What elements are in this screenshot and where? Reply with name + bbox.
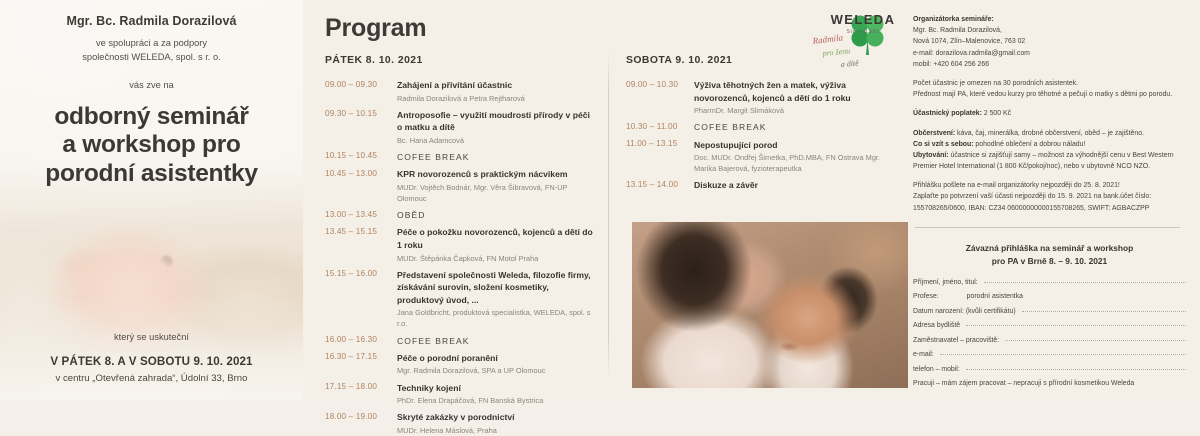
- apply-deadline: Přihlášku pošlete na e-mail organizátork…: [913, 180, 1186, 191]
- schedule-item-speaker: PhDr. Elena Drapáčová, FN Banská Bystric…: [397, 395, 594, 406]
- form-field-label: Adresa bydliště: [913, 322, 960, 329]
- schedule-item-body: Skryté zakázky v porodnictvíMUDr. Helena…: [397, 411, 594, 436]
- form-field-label: telefon – mobil:: [913, 366, 960, 373]
- schedule-item: 17.15 – 18.00Techniky kojeníPhDr. Elena …: [325, 382, 594, 407]
- spacer: [26, 189, 277, 332]
- schedule-item: 16.00 – 16.30COFEE BREAK: [325, 335, 594, 347]
- schedule-item-speaker: Bc. Hana Adamcová: [397, 135, 594, 146]
- form-row: Profese:porodní asistentka: [913, 293, 1186, 300]
- schedule-item-title: COFEE BREAK: [397, 151, 594, 163]
- collab-line-2: společnosti WELEDA, spol. s r. o.: [26, 50, 277, 64]
- schedule-item-title: Antroposofie – využití moudrosti přírody…: [397, 109, 594, 134]
- schedule-item-title: KPR novorozenců s praktickým nácvikem: [397, 168, 594, 181]
- schedule-item-title: Zahájení a přivítání účastnic: [397, 79, 594, 92]
- schedule-item-speaker: Mgr. Radmila Dorazilová, SPA a UP Olomou…: [397, 365, 594, 376]
- organizer-mobile: mobil: +420 604 256 266: [913, 59, 1186, 70]
- schedule-item: 09.30 – 10.15Antroposofie – využití moud…: [325, 109, 594, 146]
- schedule-item-body: Diskuze a závěr: [694, 179, 889, 192]
- schedule-item-title: Nepostupující porod: [694, 139, 889, 152]
- info-panel: WELEDA Since 1921 Organizátorka semináře…: [903, 0, 1200, 400]
- practical-info-block: Občerstvení: káva, čaj, minerálka, drobn…: [913, 128, 1186, 173]
- schedule-item-body: COFEE BREAK: [397, 151, 594, 163]
- schedule-item-body: Techniky kojeníPhDr. Elena Drapáčová, FN…: [397, 382, 594, 407]
- schedule-item-body: Nepostupující porodDoc. MUDr. Ondřej Šim…: [694, 139, 889, 175]
- program-header: Program Radmila pro ženu a dítě: [303, 14, 903, 43]
- schedule-item-time: 10.15 – 10.45: [325, 151, 397, 163]
- schedule-item-time: 10.45 – 13.00: [325, 168, 397, 204]
- form-field-input[interactable]: [984, 282, 1186, 283]
- form-field-label: Datum narození: (kvůli certifikátu): [913, 308, 1016, 315]
- fee-value: 2 500 Kč: [982, 110, 1011, 117]
- organizer-name: Mgr. Bc. Radmila Dorazilová: [26, 14, 277, 28]
- schedule-item: 09.00 – 10.30Výživa těhotných žen a mate…: [626, 79, 889, 116]
- schedule-item-body: COFEE BREAK: [694, 121, 889, 133]
- fee-block: Účastnický poplatek: 2 500 Kč: [913, 108, 1186, 119]
- schedule-item-time: 10.30 – 11.00: [626, 121, 694, 133]
- accommodation-value: účastnice si zajišťují samy – možnost za…: [949, 152, 1174, 159]
- schedule-item-time: 11.00 – 13.15: [626, 139, 694, 175]
- schedule-item: 13.45 – 15.15Péče o pokožku novorozenců,…: [325, 226, 594, 263]
- schedule-item-title: Diskuze a závěr: [694, 179, 889, 192]
- accommodation-line-2: Premier Hotel International (1 800 Kč/po…: [913, 161, 1186, 172]
- weleda-usage-note: Pracuji – mám zájem pracovat – nepracuji…: [913, 380, 1186, 387]
- friday-day-label: PÁTEK 8. 10. 2021: [325, 55, 594, 66]
- schedule-item-time: 09.00 – 10.30: [626, 79, 694, 116]
- schedule-item: 13.00 – 13.45OBĚD: [325, 209, 594, 221]
- bank-account: 155708265/0600, IBAN: CZ34 0600000000015…: [913, 203, 1186, 214]
- schedule-item-body: Představení společnosti Weleda, filozofi…: [397, 269, 594, 330]
- schedule-item: 10.30 – 11.00COFEE BREAK: [626, 121, 889, 133]
- refreshments-value: káva, čaj, minerálka, drobné občerstvení…: [955, 130, 1144, 137]
- schedule-item-body: COFEE BREAK: [397, 335, 594, 347]
- form-title-line-2: pro PA v Brně 8. – 9. 10. 2021: [913, 255, 1186, 268]
- left-content: Mgr. Bc. Radmila Dorazilová ve spoluprác…: [0, 0, 303, 400]
- schedule-item-body: KPR novorozenců s praktickým nácvikemMUD…: [397, 168, 594, 204]
- left-hero-panel: Mgr. Bc. Radmila Dorazilová ve spoluprác…: [0, 0, 303, 400]
- schedule-item-title: COFEE BREAK: [694, 121, 889, 133]
- schedule-item-time: 13.45 – 15.15: [325, 226, 397, 263]
- divider: [915, 227, 1180, 228]
- capacity-line-1: Počet účastnic je omezen na 30 porodních…: [913, 78, 1186, 89]
- schedule-item: 09.00 – 09.30Zahájení a přivítání účastn…: [325, 79, 594, 104]
- schedule-item: 11.00 – 13.15Nepostupující porodDoc. MUD…: [626, 139, 889, 175]
- friday-column: PÁTEK 8. 10. 2021 09.00 – 09.30Zahájení …: [303, 55, 608, 385]
- schedule-item-body: Péče o pokožku novorozenců, kojenců a dě…: [397, 226, 594, 263]
- capacity-block: Počet účastnic je omezen na 30 porodních…: [913, 78, 1186, 100]
- schedule-item-body: Výživa těhotných žen a matek, výživa nov…: [694, 79, 889, 116]
- schedule-item-speaker: Jana Goldbricht, produktová specialistka…: [397, 307, 594, 329]
- title-line-2: a workshop pro: [26, 131, 277, 160]
- form-row: telefon – mobil:: [913, 366, 1186, 373]
- form-field-input[interactable]: [940, 354, 1186, 355]
- event-venue: v centru „Otevřená zahrada“, Údolní 33, …: [26, 373, 277, 384]
- page-title: odborný seminář a workshop pro porodní a…: [26, 103, 277, 189]
- schedule-item-time: 15.15 – 16.00: [325, 269, 397, 330]
- collab-line-1: ve spolupráci a za podpory: [26, 36, 277, 50]
- organizer-address: Nová 1074, Zlín–Malenovice, 763 02: [913, 36, 1186, 47]
- schedule-item: 16.30 – 17.15Péče o porodní poraněníMgr.…: [325, 352, 594, 377]
- fee-label: Účastnický poplatek:: [913, 110, 982, 117]
- schedule-item-speaker: Doc. MUDr. Ondřej Šimetka, PhD.MBA, FN O…: [694, 152, 889, 174]
- form-row: Datum narození: (kvůli certifikátu): [913, 308, 1186, 315]
- registration-form-fields: Příjmení, jméno, titul:Profese:porodní a…: [913, 279, 1186, 373]
- schedule-item-time: 09.30 – 10.15: [325, 109, 397, 146]
- organizer-name-line: Mgr. Bc. Radmila Dorazilová,: [913, 25, 1186, 36]
- schedule-item-title: OBĚD: [397, 209, 594, 221]
- form-row: Zaměstnavatel – pracoviště:: [913, 337, 1186, 344]
- schedule-item-body: Péče o porodní poraněníMgr. Radmila Dora…: [397, 352, 594, 377]
- schedule-item-body: Antroposofie – využití moudrosti přírody…: [397, 109, 594, 146]
- title-line-1: odborný seminář: [26, 103, 277, 132]
- form-field-label: e-mail:: [913, 351, 934, 358]
- schedule-item: 15.15 – 16.00Představení společnosti Wel…: [325, 269, 594, 330]
- form-field-label: Profese:: [913, 293, 939, 300]
- schedule-item-title: Péče o porodní poranění: [397, 352, 594, 365]
- weleda-wordmark: WELEDA: [815, 12, 911, 27]
- schedule-item-speaker: MUDr. Vojtěch Bodnár, Mgr. Věra Šibravov…: [397, 182, 594, 204]
- form-row: e-mail:: [913, 351, 1186, 358]
- schedule-item: 10.15 – 10.45COFEE BREAK: [325, 151, 594, 163]
- form-row: Příjmení, jméno, titul:: [913, 279, 1186, 286]
- form-row: Adresa bydliště: [913, 322, 1186, 329]
- registration-form-title: Závazná přihláška na seminář a workshop …: [913, 242, 1186, 268]
- schedule-item-time: 13.15 – 14.00: [626, 179, 694, 192]
- organizer-email: e-mail: dorazilova.radmila@gmail.com: [913, 48, 1186, 59]
- saturday-day-label: SOBOTA 9. 10. 2021: [626, 55, 889, 66]
- schedule-item-speaker: Radmila Dorazilová a Petra Rejtharová: [397, 93, 594, 104]
- form-field-input[interactable]: [966, 325, 1186, 326]
- schedule-item-time: 16.30 – 17.15: [325, 352, 397, 377]
- schedule-item-time: 18.00 – 19.00: [325, 411, 397, 436]
- payment-deadline: Zaplaťte po potvrzení vaší účasti nejpoz…: [913, 191, 1186, 202]
- schedule-item-body: OBĚD: [397, 209, 594, 221]
- saturday-schedule-list: 09.00 – 10.30Výživa těhotných žen a mate…: [626, 79, 889, 192]
- form-field-input[interactable]: [1005, 340, 1186, 341]
- form-field-input[interactable]: [1022, 311, 1186, 312]
- schedule-item-body: Zahájení a přivítání účastnicRadmila Dor…: [397, 79, 594, 104]
- bring-value: pohodlné oblečení a dobrou náladu!: [974, 141, 1086, 148]
- which-text: který se uskuteční: [26, 332, 277, 342]
- schedule-item-speaker: MUDr. Štěpánka Čapková, FN Motol Praha: [397, 253, 594, 264]
- form-field-input[interactable]: [966, 369, 1186, 370]
- refreshments-label: Občerstvení:: [913, 130, 955, 137]
- payment-block: Přihlášku pošlete na e-mail organizátork…: [913, 180, 1186, 214]
- event-dates: V PÁTEK 8. A V SOBOTU 9. 10. 2021: [26, 355, 277, 368]
- program-title: Program: [325, 14, 881, 43]
- schedule-item-title: Výživa těhotných žen a matek, výživa nov…: [694, 79, 889, 104]
- schedule-item-title: Představení společnosti Weleda, filozofi…: [397, 269, 594, 307]
- flyer-page: Mgr. Bc. Radmila Dorazilová ve spoluprác…: [0, 0, 1200, 400]
- friday-schedule-list: 09.00 – 09.30Zahájení a přivítání účastn…: [325, 79, 594, 436]
- collaboration-text: ve spolupráci a za podpory společnosti W…: [26, 36, 277, 65]
- form-field-value: porodní asistentka: [967, 293, 1023, 300]
- form-field-label: Zaměstnavatel – pracoviště:: [913, 337, 999, 344]
- organizer-block: Organizátorka semináře: Mgr. Bc. Radmila…: [913, 14, 1186, 70]
- organizer-heading: Organizátorka semináře:: [913, 16, 994, 23]
- weleda-logo: WELEDA Since 1921: [815, 12, 911, 35]
- invite-text: vás zve na: [26, 80, 277, 90]
- bring-label: Co si vzít s sebou:: [913, 141, 974, 148]
- schedule-item-time: 13.00 – 13.45: [325, 209, 397, 221]
- form-field-label: Příjmení, jméno, titul:: [913, 279, 978, 286]
- schedule-item-speaker: PharmDr. Margit Slimáková: [694, 105, 889, 116]
- schedule-item-title: Skryté zakázky v porodnictví: [397, 411, 594, 424]
- capacity-line-2: Přednost mají PA, které vedou kurzy pro …: [913, 89, 1186, 100]
- weleda-since-label: Since 1921: [815, 29, 911, 35]
- schedule-item: 18.00 – 19.00Skryté zakázky v porodnictv…: [325, 411, 594, 436]
- schedule-item-time: 17.15 – 18.00: [325, 382, 397, 407]
- accommodation-label: Ubytování:: [913, 152, 949, 159]
- schedule-item-title: Péče o pokožku novorozenců, kojenců a dě…: [397, 226, 594, 251]
- mother-and-baby-photo: [632, 222, 908, 388]
- schedule-item-title: Techniky kojení: [397, 382, 594, 395]
- schedule-item: 13.15 – 14.00Diskuze a závěr: [626, 179, 889, 192]
- title-line-3: porodní asistentky: [26, 160, 277, 189]
- schedule-item-title: COFEE BREAK: [397, 335, 594, 347]
- schedule-item-time: 09.00 – 09.30: [325, 79, 397, 104]
- schedule-item-time: 16.00 – 16.30: [325, 335, 397, 347]
- form-title-line-1: Závazná přihláška na seminář a workshop: [913, 242, 1186, 255]
- schedule-item: 10.45 – 13.00KPR novorozenců s praktický…: [325, 168, 594, 204]
- schedule-item-speaker: MUDr. Helena Máslová, Praha: [397, 425, 594, 436]
